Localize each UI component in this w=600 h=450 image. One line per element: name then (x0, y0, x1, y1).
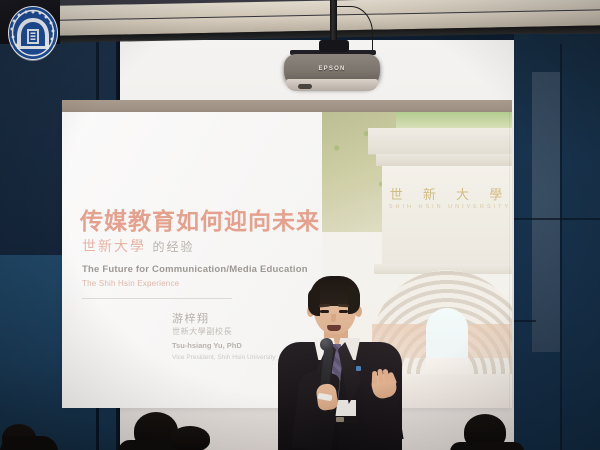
audience-head-2 (170, 426, 210, 450)
belt-buckle (336, 417, 344, 422)
slide-divider (82, 298, 232, 299)
slide-speaker-name-chinese: 游梓翔 (172, 310, 210, 326)
eye-right (339, 310, 348, 313)
right-wall-panel-line-3 (512, 320, 536, 322)
right-wall-panel-line-1 (560, 44, 562, 450)
mouth (327, 325, 341, 331)
slide-title-chinese: 传媒教育如何迎向未来 (80, 202, 320, 236)
finger-4 (372, 371, 377, 384)
projector-mount-bracket (319, 40, 349, 52)
gate-name-chinese: 世 新 大 學 (382, 184, 512, 203)
gate-facade (382, 166, 512, 266)
gate-cornice-upper (368, 128, 512, 154)
university-emblem-watermark (6, 5, 60, 61)
nose (331, 314, 336, 322)
slide-photo-edge (509, 112, 510, 408)
slide-speaker-name-english: Tsu-hsiang Yu, PhD (172, 341, 242, 350)
gate-cornice-lower (376, 154, 512, 166)
audience-shoulders-4 (0, 436, 58, 450)
audience-shoulders-3 (450, 442, 524, 450)
projector-mount-pole (330, 0, 337, 44)
slide-speaker-title-chinese: 世新大學副校長 (172, 326, 232, 337)
right-wall-light-strip (532, 72, 560, 352)
presentation-photo: EPSON 世 新 大 學 SHIH HSIN UNIVERSITY 传媒教育如… (0, 0, 600, 450)
hair-side-left (308, 288, 320, 316)
slide-subtitle-brand: 世新大學 (82, 239, 146, 255)
projector-lens (298, 84, 312, 89)
right-wall-panel-line-2 (512, 218, 600, 220)
projector-brand-label: EPSON (284, 66, 380, 72)
lapel-pin (356, 366, 361, 371)
gate-name-english: SHIH HSIN UNIVERSITY (382, 204, 512, 210)
slide-speaker-title-english: Vice President, Shih Hsin University (172, 354, 276, 361)
speaker-person (272, 268, 408, 450)
slide-subtitle-chinese: 世新大學 的经验 (82, 236, 194, 256)
slide-subtitle-english: The Shih Hsin Experience (82, 279, 179, 288)
eye-left (320, 310, 329, 313)
slide-subtitle-suffix: 的经验 (152, 240, 194, 254)
